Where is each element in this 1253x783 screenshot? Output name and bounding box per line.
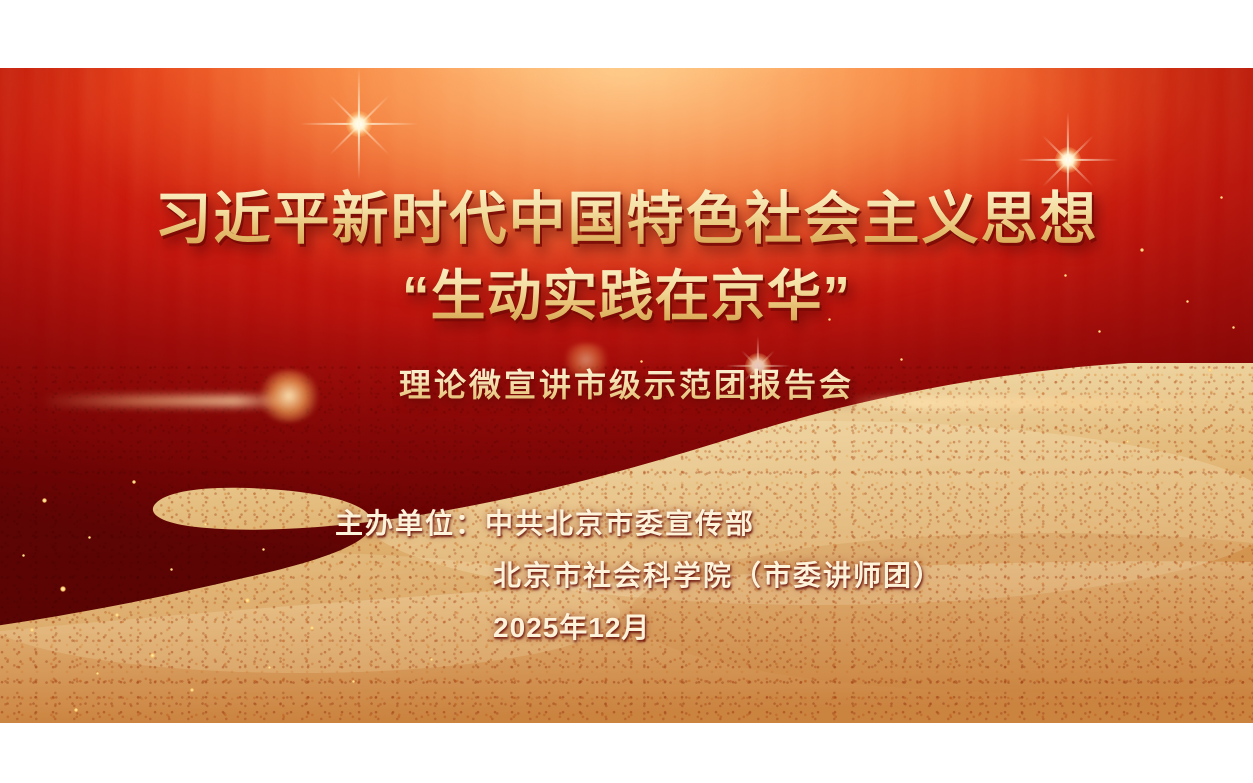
page-title: 习近平新时代中国特色社会主义思想 — [0, 173, 1253, 255]
page-subtitle-quote: “生动实践在京华” — [0, 251, 1253, 331]
event-poster: 习近平新时代中国特色社会主义思想 “生动实践在京华” 理论微宣讲市级示范团报告会… — [0, 68, 1253, 723]
organizer-line-1: 主办单位：中共北京市委宣传部 — [335, 498, 943, 550]
letterbox-bottom — [0, 723, 1253, 783]
screenshot-canvas: 习近平新时代中国特色社会主义思想 “生动实践在京华” 理论微宣讲市级示范团报告会… — [0, 0, 1253, 783]
organizer-block: 主办单位：中共北京市委宣传部 北京市社会科学院（市委讲师团） 2025年12月 — [335, 498, 943, 654]
letterbox-top — [0, 0, 1253, 68]
organizer-line-2: 北京市社会科学院（市委讲师团） — [335, 550, 943, 602]
organizer-date: 2025年12月 — [335, 602, 943, 654]
event-subtitle: 理论微宣讲市级示范团报告会 — [0, 360, 1253, 406]
